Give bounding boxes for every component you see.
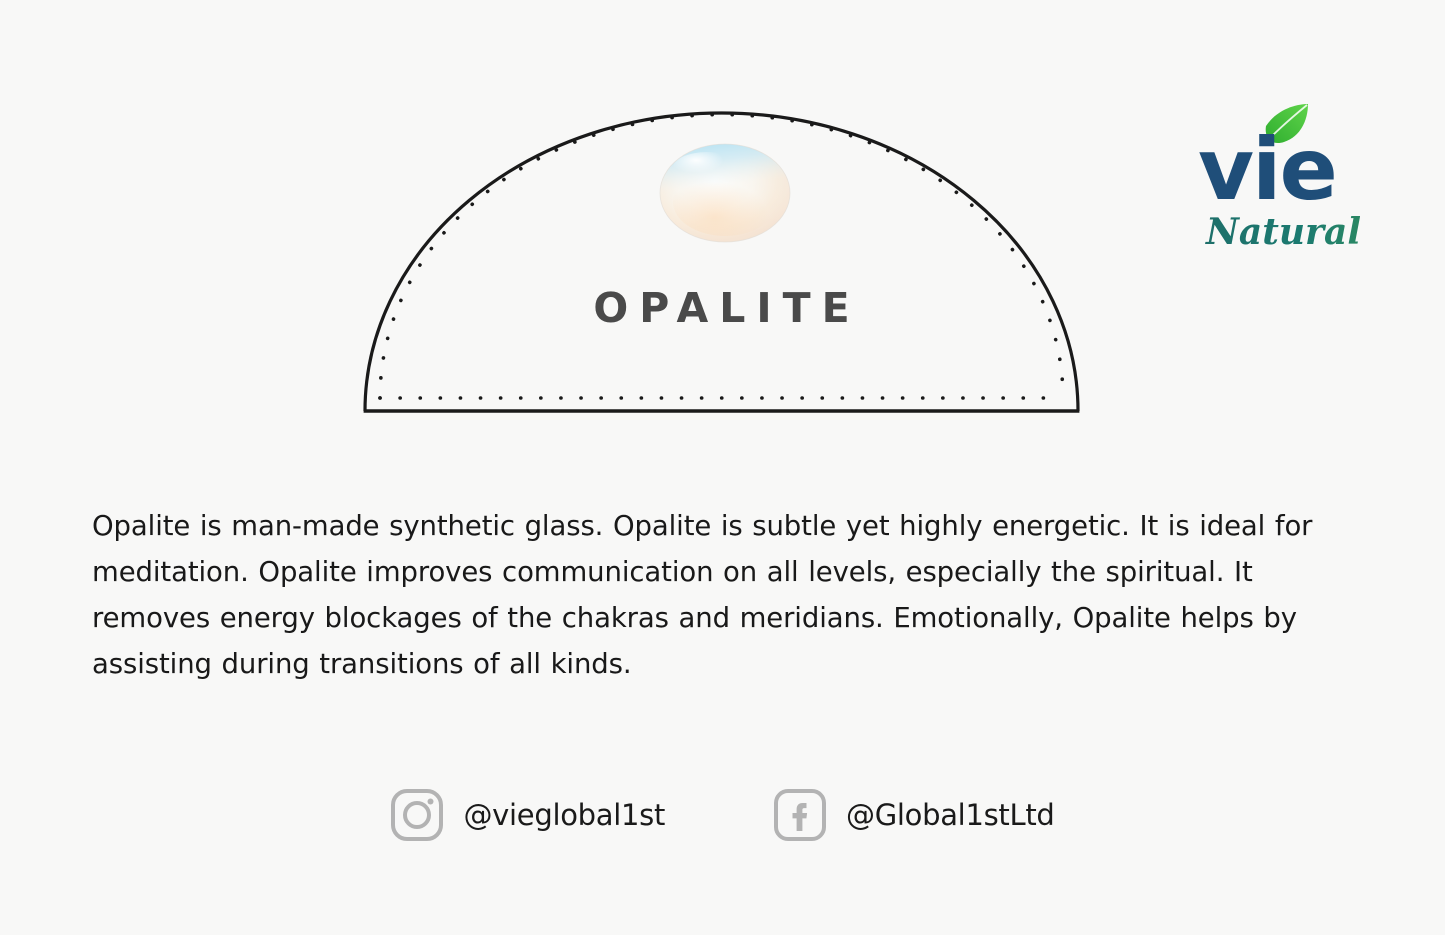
logo-script: Naturals: [1205, 211, 1360, 253]
social-link-facebook[interactable]: @Global1stLtd: [773, 788, 1054, 842]
social-link-instagram[interactable]: @vieglobal1st: [390, 788, 665, 842]
social-links-row: @vieglobal1st @Global1stLtd: [0, 788, 1445, 842]
page-title: OPALITE: [365, 288, 1078, 329]
gem-highlight: [673, 152, 741, 184]
facebook-handle: @Global1stLtd: [846, 798, 1054, 832]
vie-naturals-logo: vie Naturals: [1192, 92, 1360, 262]
opalite-stone-image: [657, 140, 793, 246]
instagram-icon: [390, 788, 444, 842]
logo-wordmark: vie: [1198, 120, 1336, 220]
description-paragraph: Opalite is man-made synthetic glass. Opa…: [92, 503, 1360, 687]
facebook-icon: [773, 788, 827, 842]
product-info-card: OPALITE Opalite is man-made synthetic gl…: [0, 0, 1445, 935]
instagram-handle: @vieglobal1st: [463, 798, 665, 832]
